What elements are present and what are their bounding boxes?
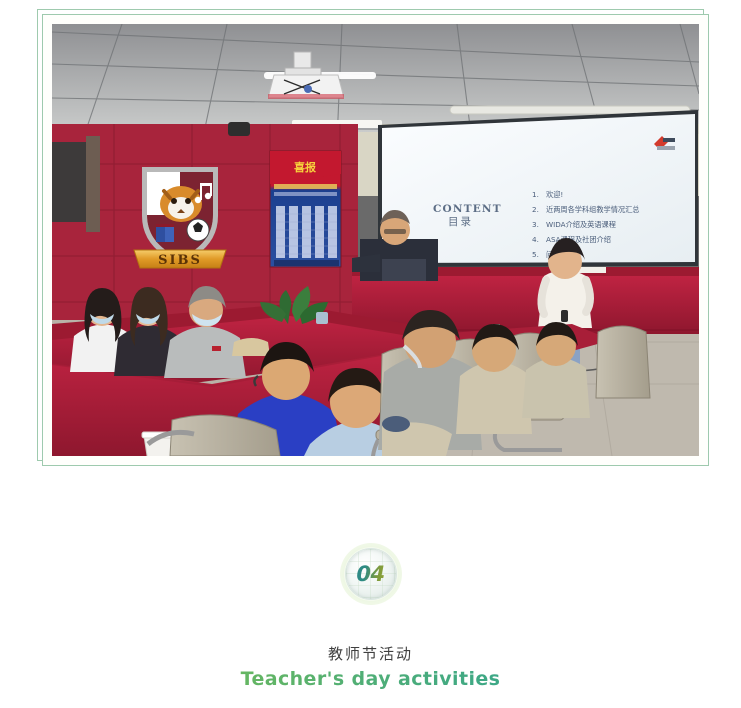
wall-poster: 喜报 xyxy=(270,151,341,267)
section-title-en: Teacher's day activities xyxy=(0,668,741,690)
svg-text:3. WIDA介绍及英语课程: 3. WIDA介绍及英语课程 xyxy=(532,220,616,229)
svg-text:喜报: 喜报 xyxy=(294,160,317,174)
photo-illustration: SIBS 喜报 xyxy=(52,24,699,456)
article-page: SIBS 喜报 xyxy=(0,0,741,708)
slide-heading-en: CONTENT xyxy=(433,203,502,215)
svg-text:2. 近两周各学科组教学情况汇总: 2. 近两周各学科组教学情况汇总 xyxy=(532,205,639,214)
svg-text:SIBS: SIBS xyxy=(158,253,202,268)
badge-circle: 04 xyxy=(346,549,396,599)
section-number-badge: 04 xyxy=(0,543,741,605)
meeting-room-photo: SIBS 喜报 xyxy=(52,24,699,456)
badge-glow-ring: 04 xyxy=(340,543,402,605)
section-title-cn: 教师节活动 xyxy=(0,643,741,664)
sibs-crest-icon: SIBS xyxy=(134,167,226,268)
slide-heading-cn: 目录 xyxy=(448,216,473,228)
svg-text:1. 欢迎!: 1. 欢迎! xyxy=(532,190,563,199)
section-number: 04 xyxy=(356,564,384,585)
